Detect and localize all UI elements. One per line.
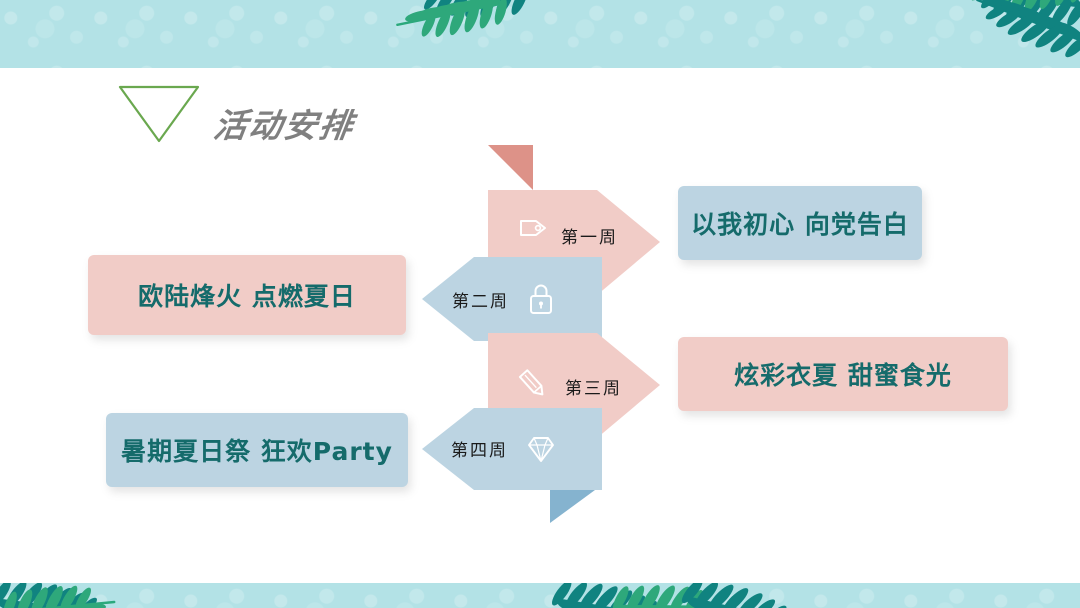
chevron-step-4-label: 第四周 <box>451 436 508 461</box>
chevron-step-3-label: 第三周 <box>565 374 622 399</box>
card-week-1[interactable]: 以我初心 向党告白 <box>678 186 922 260</box>
card-week-4[interactable]: 暑期夏日祭 狂欢Party <box>106 413 408 487</box>
chevron-step-2-label: 第二周 <box>452 287 509 312</box>
lock-icon <box>524 280 558 318</box>
card-week-3[interactable]: 炫彩衣夏 甜蜜食光 <box>678 337 1008 411</box>
card-week-1-text: 以我初心 向党告白 <box>691 205 909 241</box>
chevron-step-4-tail <box>550 490 595 523</box>
chevron-step-4[interactable]: 第四周 <box>422 408 622 523</box>
card-week-4-text: 暑期夏日祭 狂欢Party <box>121 432 393 468</box>
card-week-2[interactable]: 欧陆烽火 点燃夏日 <box>88 255 406 335</box>
chevron-step-1-tail <box>488 145 533 190</box>
chevron-step-1-label: 第一周 <box>561 223 618 248</box>
pencil-icon <box>514 365 552 403</box>
tag-icon <box>517 211 551 245</box>
card-week-3-text: 炫彩衣夏 甜蜜食光 <box>734 356 952 392</box>
card-week-2-text: 欧陆烽火 点燃夏日 <box>138 277 356 313</box>
slide-canvas: 活动安排 第一周 第二周 <box>0 0 1080 608</box>
diamond-icon <box>522 434 560 466</box>
chevron-step-2[interactable]: 第二周 <box>422 257 602 341</box>
chevron-step-4-body <box>422 408 602 490</box>
chevron-step-2-body <box>422 257 602 341</box>
